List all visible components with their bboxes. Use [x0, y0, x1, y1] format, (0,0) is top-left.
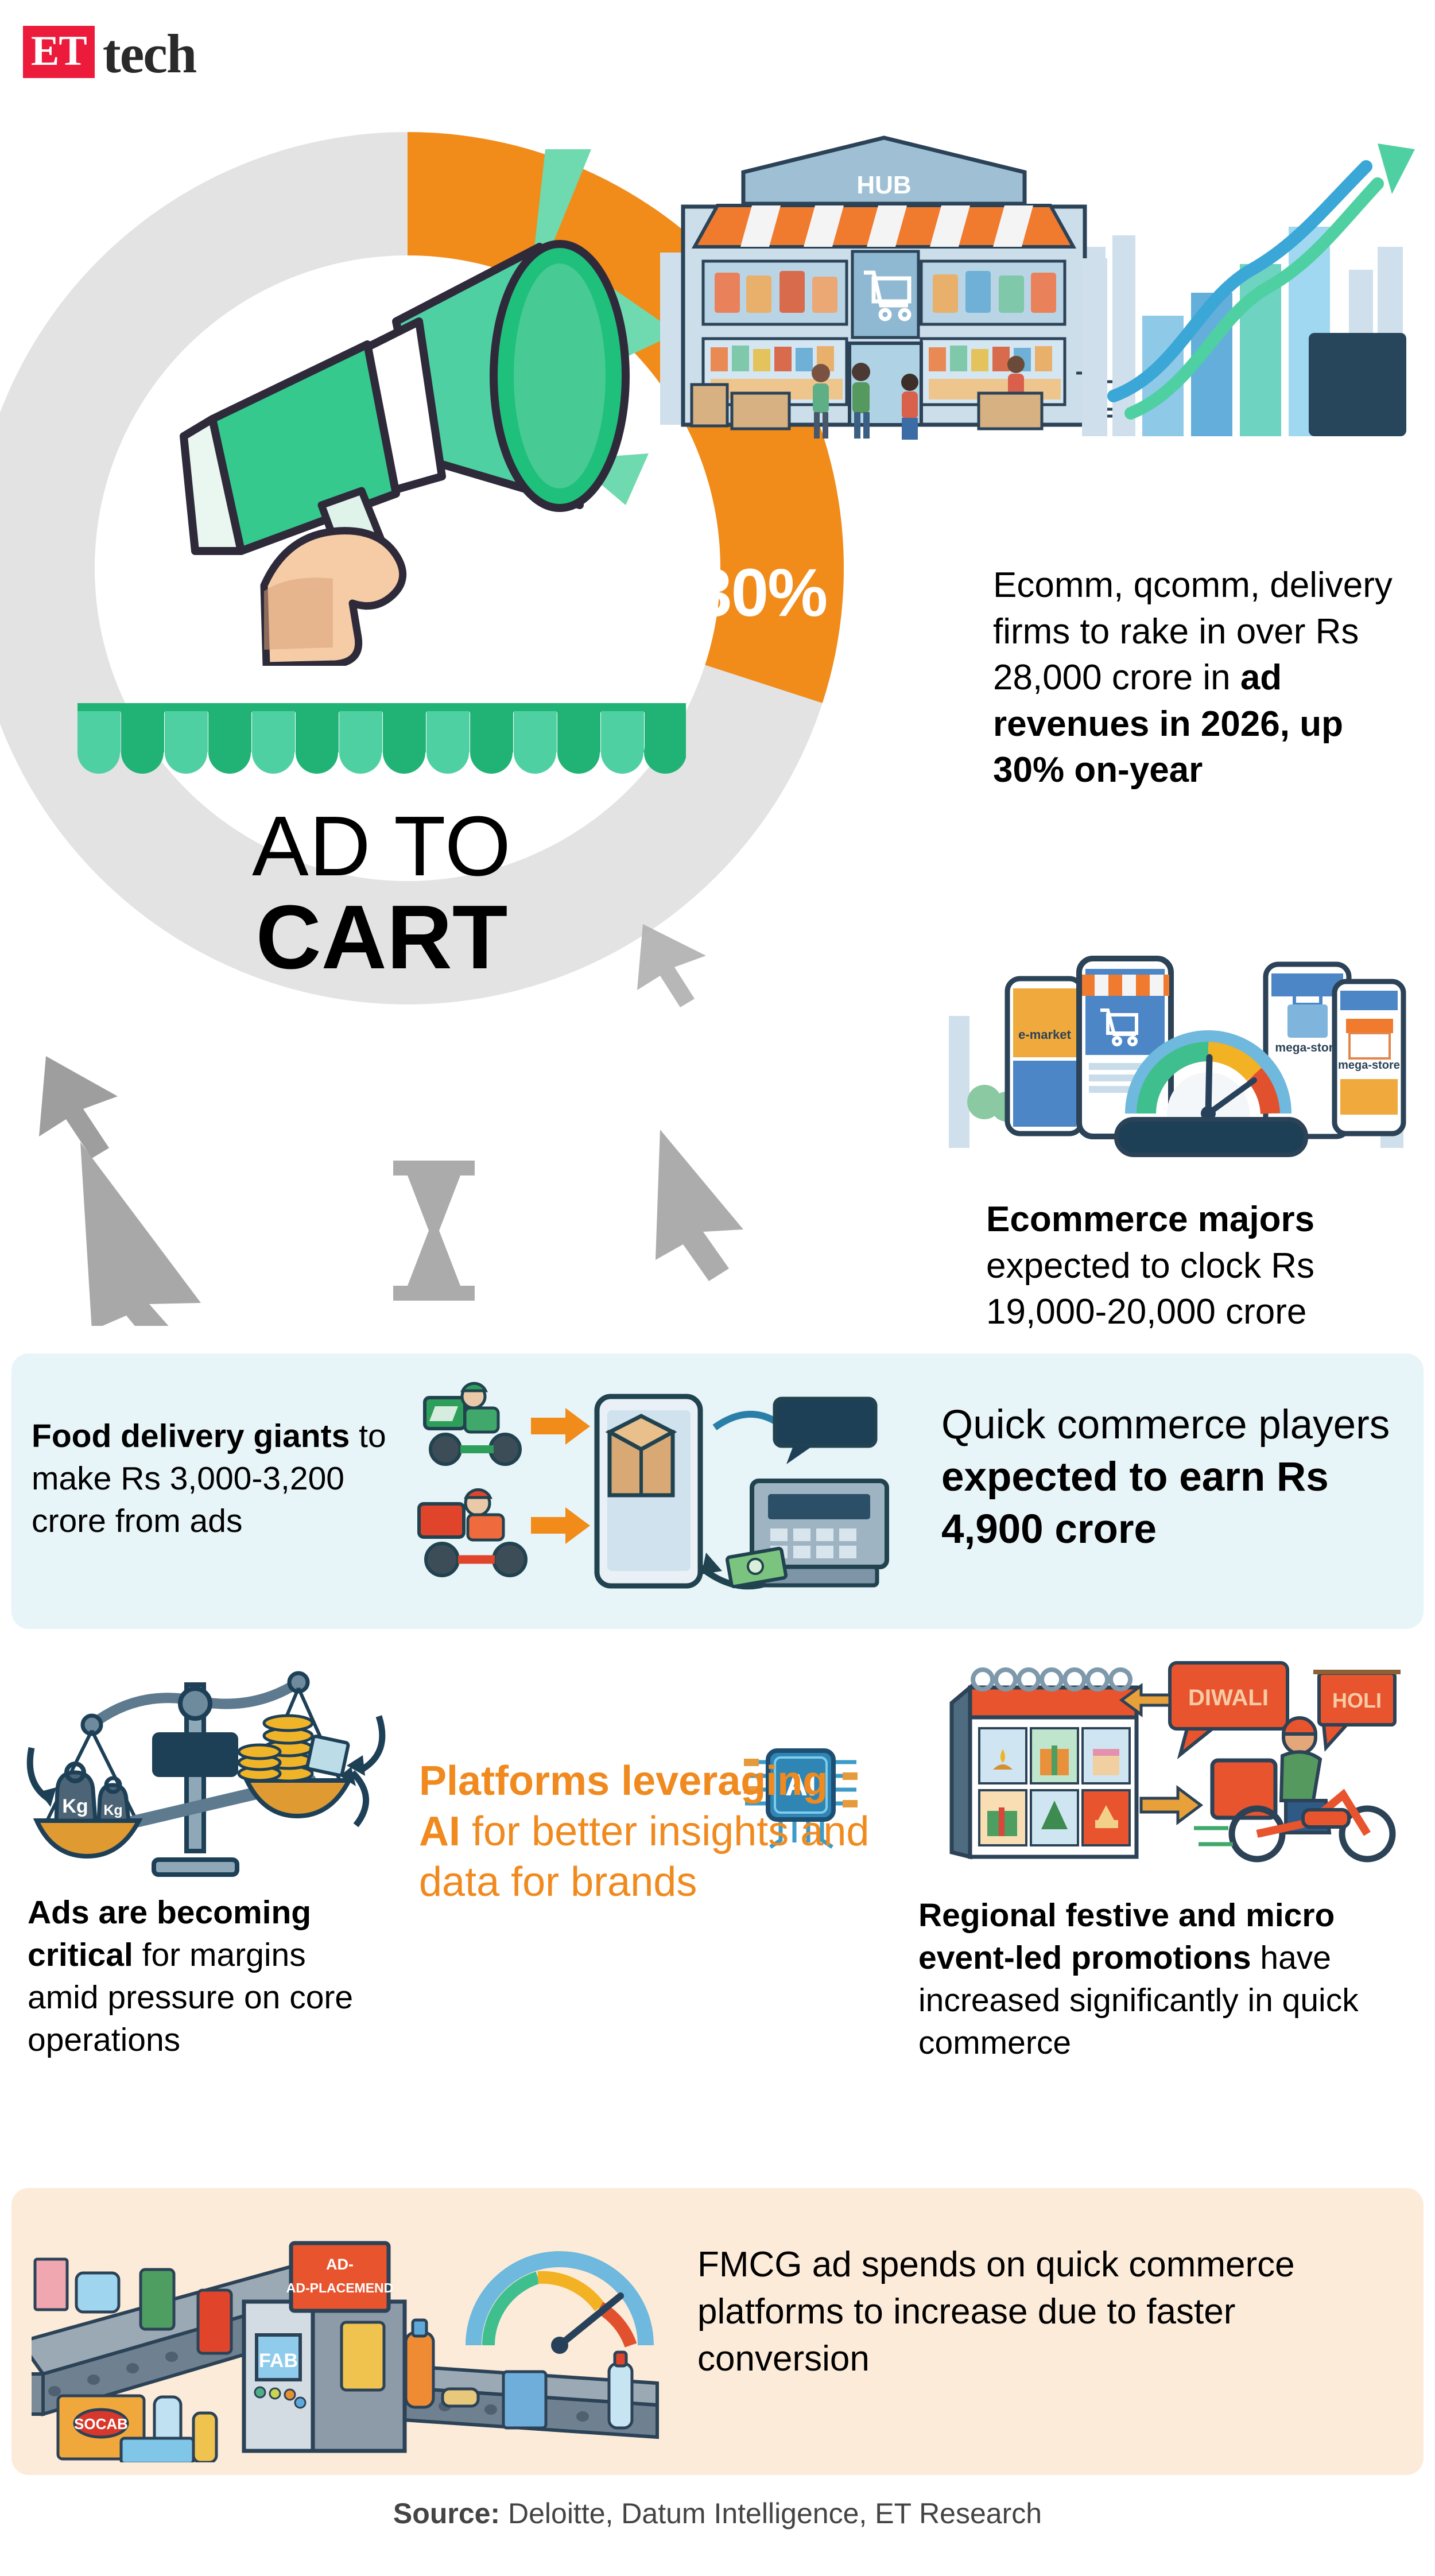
scale-pan-right — [247, 1780, 349, 1816]
phone-3-label: mega-store — [1275, 1041, 1340, 1054]
phone-1-screen-top — [1013, 988, 1076, 1057]
product-label-socab: SOCAB — [74, 2415, 128, 2433]
ad-sign-label-2: AD-PLACEMEND — [286, 2280, 394, 2295]
blue-band-left-text: Food delivery giants to make Rs 3,000-3,… — [32, 1415, 399, 1542]
calendar-header — [970, 1687, 1137, 1717]
bb-left-bold: Food delivery giants — [32, 1418, 350, 1454]
arrow-head-icon — [701, 1553, 722, 1574]
product-group-front: SOCAB — [58, 2396, 216, 2462]
phones-gauge-illustration: e-market mega-store — [944, 924, 1415, 1165]
chat-bubble-tail — [786, 1446, 813, 1464]
phone-4-header — [1340, 991, 1398, 1010]
weight-icon-small: Kg — [99, 1778, 129, 1821]
speedometer-gauge — [474, 2259, 646, 2354]
cursor-arrow-icon — [80, 1142, 201, 1326]
megaphone-mouth-inner — [514, 263, 606, 488]
arrow-curve-right-top — [363, 1716, 382, 1769]
cursor-arrow-icon — [39, 1056, 118, 1158]
hourglass-icon — [393, 1161, 475, 1301]
speed-lines-icon — [1194, 1828, 1233, 1844]
hero-title-block: AD TO CART — [69, 703, 695, 984]
scale-pivot — [180, 1689, 210, 1718]
bag-icon — [1287, 1004, 1328, 1038]
cursor-arrow-icon — [656, 1130, 743, 1281]
phone-1-label: e-market — [1018, 1027, 1071, 1042]
chart-card-icon — [307, 1736, 349, 1776]
peach-band-text: FMCG ad spends on quick commerce platfor… — [697, 2241, 1392, 2382]
bb-right-bold: expected to earn Rs 4,900 crore — [941, 1454, 1329, 1552]
scooter-green — [425, 1383, 520, 1464]
chat-bubble — [775, 1399, 875, 1446]
hand-shadow — [264, 577, 333, 650]
hero-paragraph-1: Ecomm, qcomm, delivery firms to rake in … — [993, 562, 1395, 794]
bb-right-plain: Quick commerce players — [941, 1402, 1390, 1448]
blue-band-right-text: Quick commerce players expected to earn … — [941, 1399, 1401, 1556]
hero-section: 30% — [0, 69, 1435, 1303]
phone-4-panel — [1340, 1079, 1398, 1115]
diwali-label: DIWALI — [1188, 1685, 1269, 1710]
weight-icon-large: Kg — [56, 1764, 95, 1821]
store-sign-text: HUB — [856, 171, 911, 199]
bottle-blue-icon — [609, 2352, 632, 2428]
balance-scale-illustration: Kg Kg — [11, 1630, 390, 1877]
scale-foot — [154, 1860, 237, 1875]
festive-calendar-illustration: DIWALI HOLI — [884, 1627, 1412, 1868]
weight-label-2: Kg — [103, 1802, 122, 1818]
column-2-text: Platforms leveraging AI for better insig… — [419, 1756, 872, 1907]
arrow-right-icon — [1141, 1788, 1201, 1822]
megaphone-illustration — [75, 149, 717, 666]
delivery-rider-illustration — [1194, 1718, 1393, 1859]
phone-4-store-icon — [1346, 1019, 1393, 1058]
holi-label: HOLI — [1332, 1689, 1382, 1712]
growth-chart-illustration — [1079, 126, 1424, 448]
bottle-orange-icon — [406, 2320, 433, 2407]
hero-paragraph-2: Ecommerce majors expected to clock Rs 19… — [986, 1197, 1411, 1336]
scale-pan-left — [37, 1821, 139, 1856]
source-value: Deloitte, Datum Intelligence, ET Researc… — [500, 2497, 1042, 2530]
source-line: Source: Deloitte, Datum Intelligence, ET… — [0, 2497, 1435, 2530]
coin-stack-icon — [239, 1716, 312, 1781]
weight-label-1: Kg — [62, 1795, 88, 1817]
gauge-base — [1116, 1119, 1306, 1155]
phone-4-label: mega-store — [1338, 1059, 1400, 1072]
para2-bold: Ecommerce majors — [986, 1200, 1314, 1239]
para1-plain: Ecomm, qcomm, delivery firms to rake in … — [993, 565, 1393, 697]
scale-plaque — [152, 1732, 238, 1777]
arrow-right-icon — [531, 1408, 590, 1544]
col2-plain: for better insights and data for brands — [419, 1809, 869, 1905]
scooter-red — [419, 1489, 526, 1576]
parcel-box-icon — [610, 1416, 673, 1495]
store-awning — [695, 205, 1073, 247]
motorbike-tank — [1303, 1810, 1349, 1827]
para2-plain: expected to clock Rs 19,000-20,000 crore — [986, 1246, 1314, 1332]
ad-sign-label-1: AD- — [326, 2256, 354, 2273]
conveyor-illustration: FAB AD- AD-PLACEMEND — [32, 2210, 663, 2462]
diwali-banner: DIWALI — [1170, 1663, 1287, 1755]
column-3-text: Regional festive and micro event-led pro… — [918, 1894, 1412, 2064]
page-title-line1: AD TO — [69, 804, 695, 889]
food-delivery-illustration — [408, 1363, 924, 1616]
phone-2-awning — [1082, 975, 1169, 996]
holi-banner: HOLI — [1313, 1672, 1401, 1748]
awning-icon — [77, 703, 686, 778]
page-title-line2: CART — [69, 891, 695, 984]
gauge-needle-1 — [1208, 1057, 1209, 1114]
column-1-text: Ads are becoming critical for margins am… — [28, 1891, 383, 2061]
store-illustration: HUB — [649, 103, 1119, 471]
phone-1-screen-bottom — [1013, 1061, 1076, 1127]
calendar-side — [952, 1687, 970, 1857]
product-label-fab: FAB — [259, 2350, 298, 2372]
source-label: Source: — [393, 2497, 500, 2530]
